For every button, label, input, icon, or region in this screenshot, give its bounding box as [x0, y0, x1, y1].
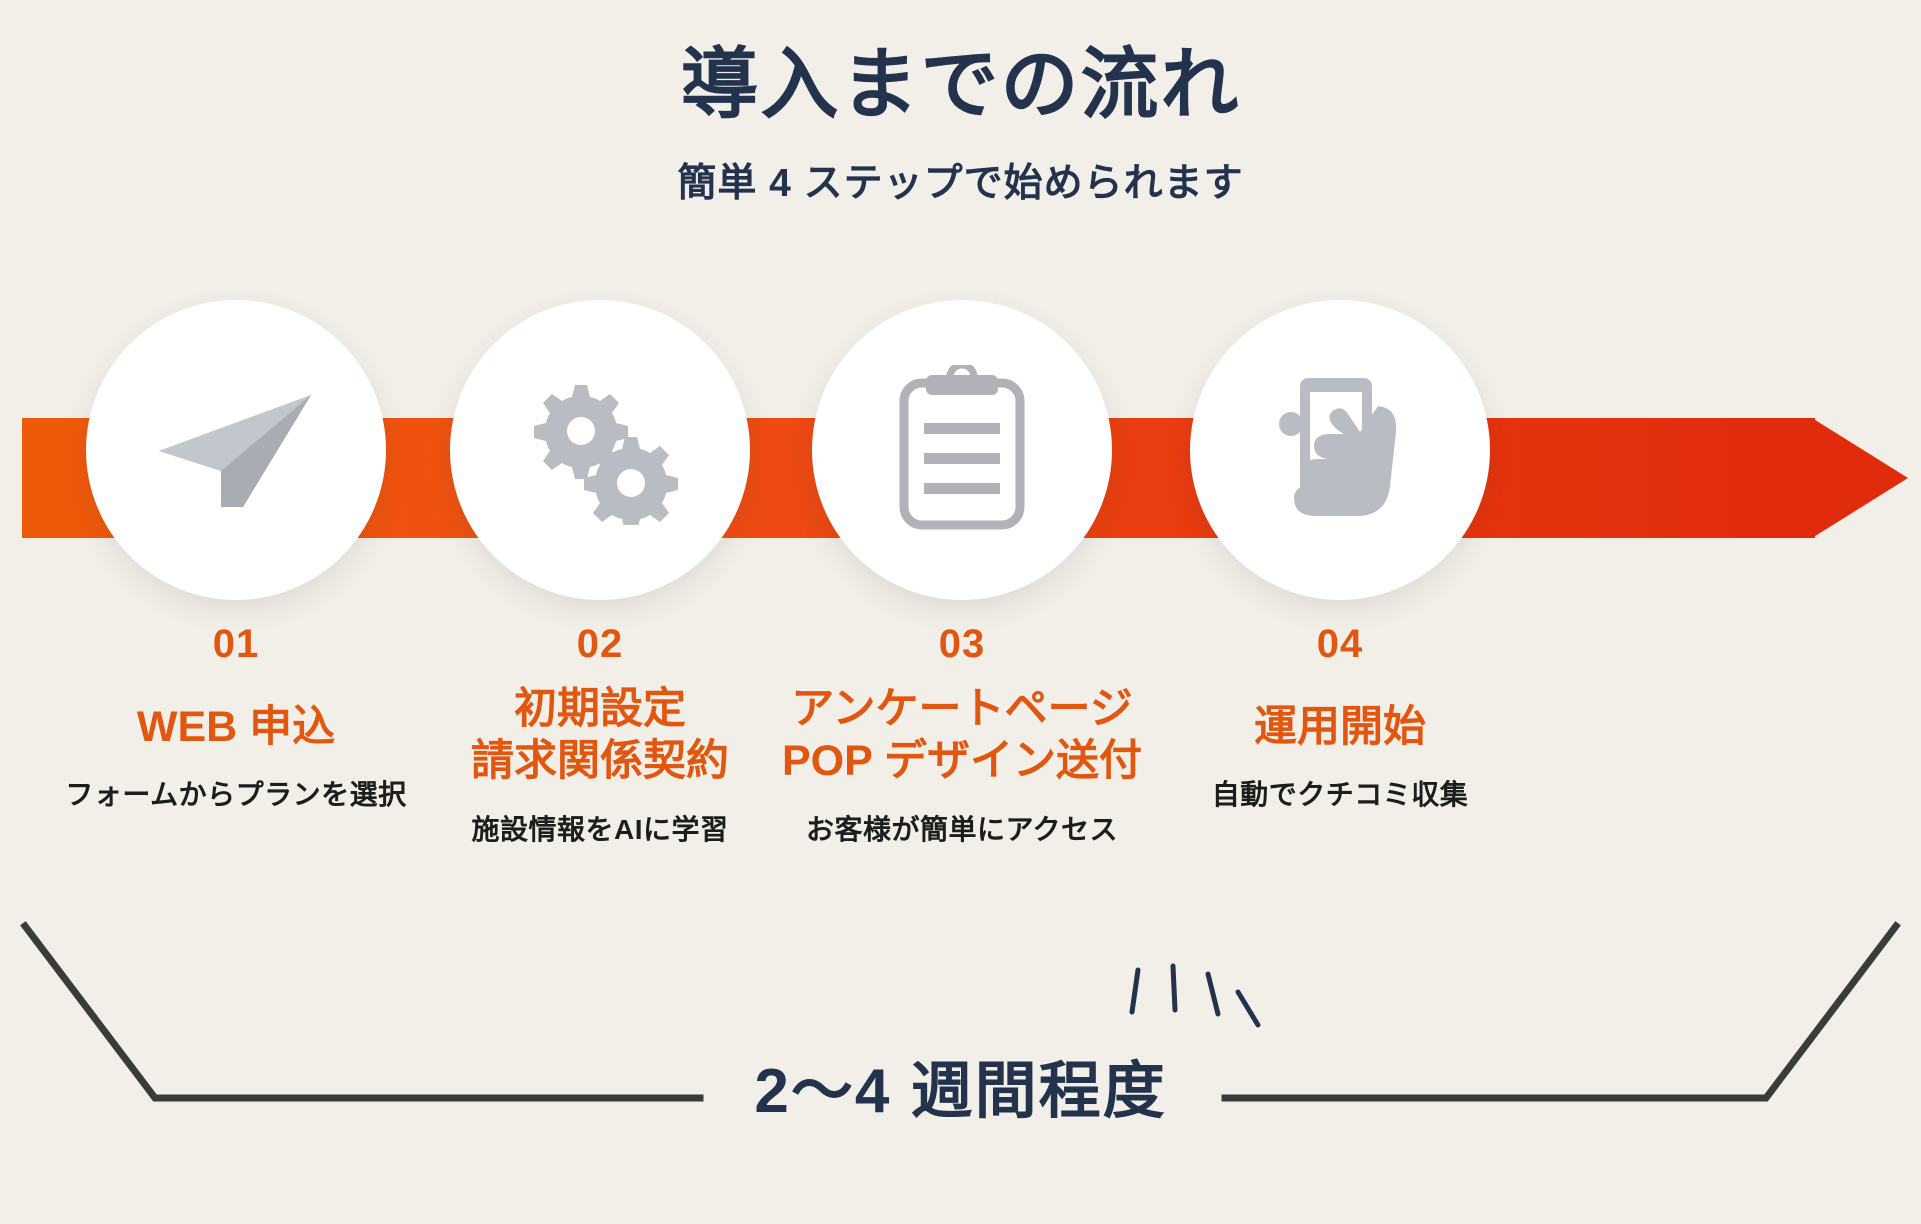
clipboard-icon: [892, 365, 1032, 535]
step-description: フォームからプランを選択: [26, 773, 446, 813]
step-number: 04: [1130, 622, 1550, 667]
sparkle-lines: [1132, 966, 1258, 1025]
step-item[interactable]: 04 運用開始 自動でクチコミ収集: [1130, 300, 1550, 813]
step-number: 02: [390, 622, 810, 667]
hand-smartphone-icon: [1260, 370, 1420, 530]
step-item[interactable]: 01 WEB 申込 フォームからプランを選択: [26, 300, 446, 813]
step-description: 施設情報をAIに学習: [390, 808, 810, 848]
step-item[interactable]: 02 初期設定 請求関係契約 施設情報をAIに学習: [390, 300, 810, 848]
step-icon-circle: [1190, 300, 1490, 600]
step-icon-circle: [450, 300, 750, 600]
duration-label: 2〜4 週間程度: [0, 1040, 1921, 1130]
step-title: 運用開始: [1130, 701, 1550, 753]
step-icon-circle: [812, 300, 1112, 600]
step-description: 自動でクチコミ収集: [1130, 773, 1550, 813]
step-description: お客様が簡単にアクセス: [752, 808, 1172, 848]
step-number: 01: [26, 622, 446, 667]
step-title: WEB 申込: [26, 701, 446, 753]
step-item[interactable]: 03 アンケートページ POP デザイン送付 お客様が簡単にアクセス: [752, 300, 1172, 848]
step-number: 03: [752, 622, 1172, 667]
paper-plane-icon: [151, 385, 321, 515]
gears-icon: [515, 375, 685, 525]
step-title: アンケートページ POP デザイン送付: [752, 683, 1172, 788]
step-title: 初期設定 請求関係契約: [390, 683, 810, 788]
step-icon-circle: [86, 300, 386, 600]
